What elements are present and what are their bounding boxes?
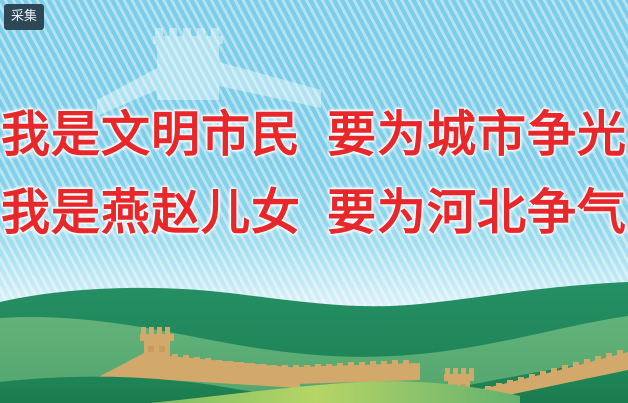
capture-button[interactable]: 采集: [4, 4, 44, 30]
slogan-line-1-left: 我是文明市民: [1, 106, 301, 163]
slogan-line-1: 我是文明市民要为城市争光: [0, 96, 628, 174]
slogan-line-2: 我是燕赵儿女要为河北争气: [0, 174, 628, 252]
slogan-block: 我是文明市民要为城市争光 我是燕赵儿女要为河北争气: [0, 96, 628, 252]
landscape-illustration: [0, 270, 628, 403]
poster-screenshot: 我是文明市民要为城市争光 我是燕赵儿女要为河北争气 采集: [0, 0, 628, 403]
slogan-line-2-right: 要为河北争气: [327, 184, 627, 241]
slogan-line-2-left: 我是燕赵儿女: [1, 184, 301, 241]
slogan-line-1-right: 要为城市争光: [327, 106, 627, 163]
